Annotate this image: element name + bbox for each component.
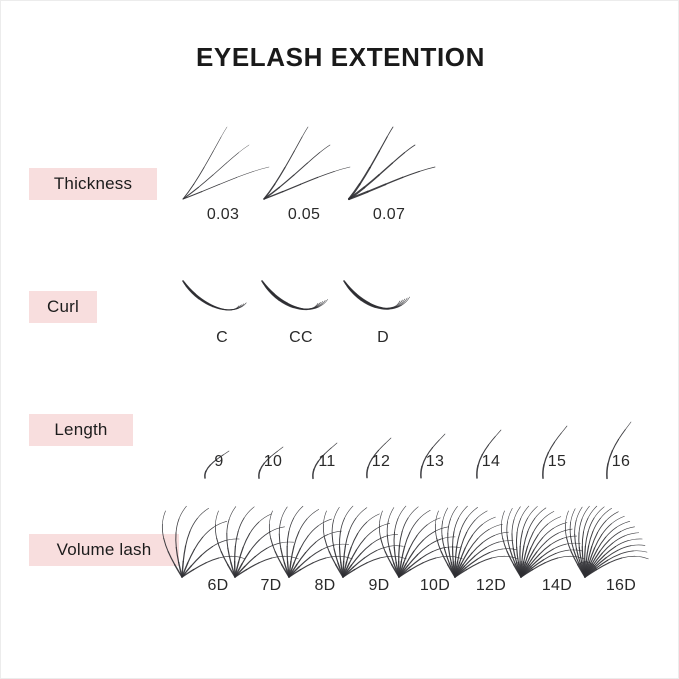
lash-glyph-icon [575,499,667,581]
specimen-curl-CC [258,259,344,321]
row-label-thickness: Thickness [29,168,157,200]
page-title: EYELASH EXTENTION [1,42,679,73]
specimen-length-16 [601,420,641,481]
specimen-caption: CC [261,329,341,347]
lash-glyph-icon [258,259,344,321]
lash-glyph-icon [256,125,352,203]
specimen-caption: D [343,329,423,347]
specimen-curl-D [340,259,426,321]
specimen-caption: 0.03 [183,206,263,224]
specimen-volume-16D [575,499,667,581]
lash-glyph-icon [179,259,265,321]
specimen-caption: 0.05 [264,206,344,224]
specimen-caption: C [182,329,262,347]
row-label-length: Length [29,414,133,446]
lash-glyph-icon [340,259,426,321]
specimen-caption: 16D [581,577,661,595]
lash-glyph-icon [341,125,437,203]
row-label-curl: Curl [29,291,97,323]
row-label-volume: Volume lash [29,534,179,566]
specimen-curl-C [179,259,265,321]
specimen-caption: 16 [581,453,661,471]
specimen-thickness-0_07 [341,125,437,203]
eyelash-extension-chart: EYELASH EXTENTION Thickness 0.030.050.07… [0,0,679,679]
lash-glyph-icon [601,420,641,481]
specimen-thickness-0_05 [256,125,352,203]
specimen-caption: 0.07 [349,206,429,224]
